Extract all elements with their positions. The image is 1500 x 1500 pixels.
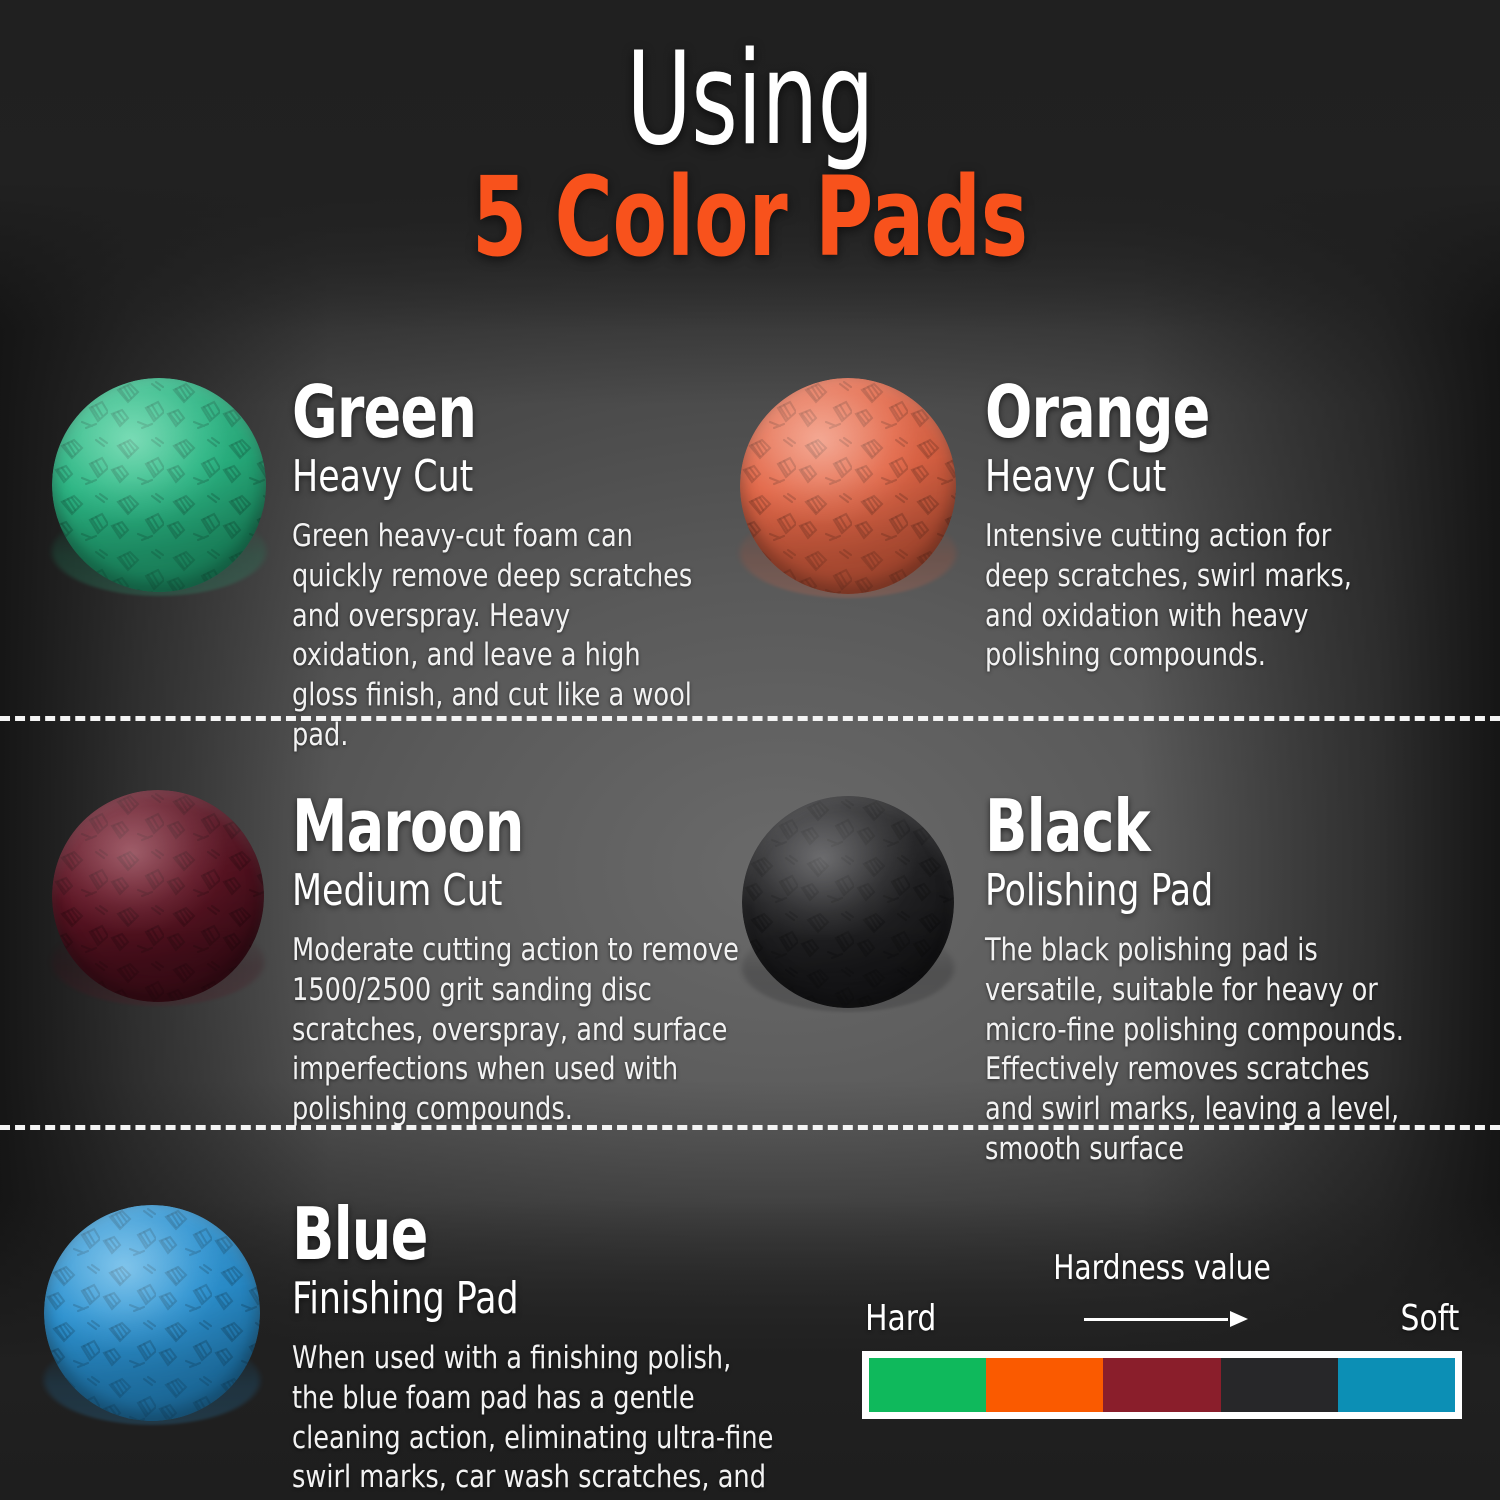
row-divider-top [0,716,1500,721]
pad-text-orange: Orange Heavy Cut Intensive cutting actio… [985,376,1415,676]
pad-subtitle-green: Heavy Cut [292,452,679,501]
pad-subtitle-blue: Finishing Pad [292,1274,758,1323]
row-divider-bottom [0,1125,1500,1130]
title-line-5-color-pads: 5 Color Pads [150,158,1350,277]
pad-name-orange: Orange [985,376,1355,448]
pad-disc-maroon [52,790,264,1002]
pad-subtitle-maroon: Medium Cut [292,866,750,915]
pad-disc-orange [740,378,956,594]
disc-reflection [52,917,264,1006]
pad-text-black: Black Polishing Pad The black polishing … [985,790,1455,1169]
pad-description-maroon: Moderate cutting action to remove 1500/2… [292,931,770,1129]
infographic-poster: Using 5 Color Pads Green Heavy Cut Green… [0,0,1500,1500]
pad-disc-blue [44,1205,260,1421]
hardness-scale-bar [862,1351,1462,1419]
pad-description-orange: Intensive cutting action for deep scratc… [985,517,1381,676]
pad-disc-green [52,378,266,592]
disc-reflection [44,1334,260,1425]
pad-name-blue: Blue [292,1198,748,1270]
arrow-shaft [1084,1318,1228,1321]
pad-subtitle-black: Polishing Pad [985,866,1399,915]
hardness-label-hard: Hard [865,1298,936,1339]
pad-name-green: Green [292,376,670,448]
arrow-head [1230,1311,1248,1327]
disc-reflection [52,506,266,596]
hardness-segment-orange [986,1358,1103,1412]
arrow-right-icon [1084,1309,1254,1329]
hardness-segment-green [869,1358,986,1412]
pad-name-maroon: Maroon [292,790,739,862]
pad-text-blue: Blue Finishing Pad When used with a fini… [292,1198,822,1500]
poster-title: Using 5 Color Pads [0,36,1500,277]
hardness-label-soft: Soft [1401,1298,1460,1339]
pad-subtitle-orange: Heavy Cut [985,452,1363,501]
hardness-segment-black [1221,1358,1338,1412]
pad-description-blue: When used with a finishing polish, the b… [292,1339,780,1500]
pad-name-black: Black [985,790,1389,862]
pad-text-green: Green Heavy Cut Green heavy-cut foam can… [292,376,732,755]
hardness-legend-title: Hardness value [886,1248,1438,1288]
hardness-legend: Hardness value Hard Soft [862,1248,1462,1419]
pad-text-maroon: Maroon Medium Cut Moderate cutting actio… [292,790,812,1130]
hardness-segment-maroon [1103,1358,1220,1412]
disc-reflection [740,507,956,598]
pad-description-black: The black polishing pad is versatile, su… [985,931,1417,1169]
hardness-segment-blue [1338,1358,1455,1412]
title-line-using: Using [165,36,1335,164]
hardness-legend-endpoints: Hard Soft [862,1298,1462,1339]
